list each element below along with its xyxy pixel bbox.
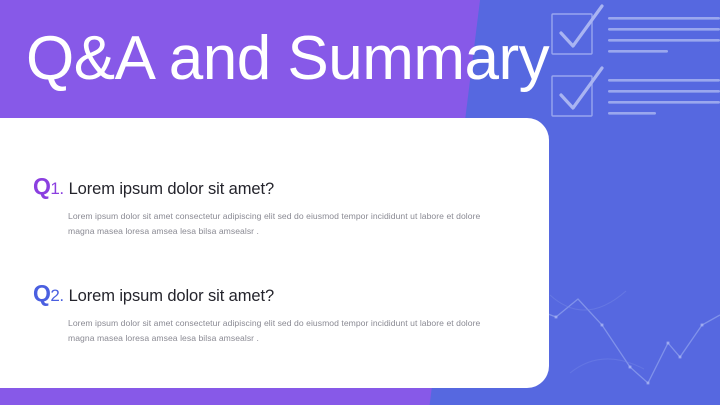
qa-item: Q1. Lorem ipsum dolor sit amet? Lorem ip… xyxy=(33,173,504,238)
qa-marker-letter: Q xyxy=(33,173,50,199)
qa-marker: Q2. xyxy=(33,280,64,307)
qa-list: Q1. Lorem ipsum dolor sit amet? Lorem ip… xyxy=(33,173,504,345)
qa-item: Q2. Lorem ipsum dolor sit amet? Lorem ip… xyxy=(33,280,504,345)
qa-answer-text: Lorem ipsum dolor sit amet consectetur a… xyxy=(68,316,488,345)
qa-marker-number: 2. xyxy=(50,286,63,305)
qa-marker-letter: Q xyxy=(33,280,50,306)
qa-marker-number: 1. xyxy=(50,179,63,198)
qa-heading-row: Q2. Lorem ipsum dolor sit amet? xyxy=(33,280,504,307)
page-title: Q&A and Summary xyxy=(26,18,549,100)
qa-answer-text: Lorem ipsum dolor sit amet consectetur a… xyxy=(68,209,488,238)
qa-heading-row: Q1. Lorem ipsum dolor sit amet? xyxy=(33,173,504,200)
slide-canvas: Q&A and Summary Q1. Lorem ipsum dolor si… xyxy=(0,0,720,405)
qa-question-text: Lorem ipsum dolor sit amet? xyxy=(69,287,274,306)
content-card: Q1. Lorem ipsum dolor sit amet? Lorem ip… xyxy=(0,118,549,388)
qa-question-text: Lorem ipsum dolor sit amet? xyxy=(69,180,274,199)
qa-marker: Q1. xyxy=(33,173,64,200)
